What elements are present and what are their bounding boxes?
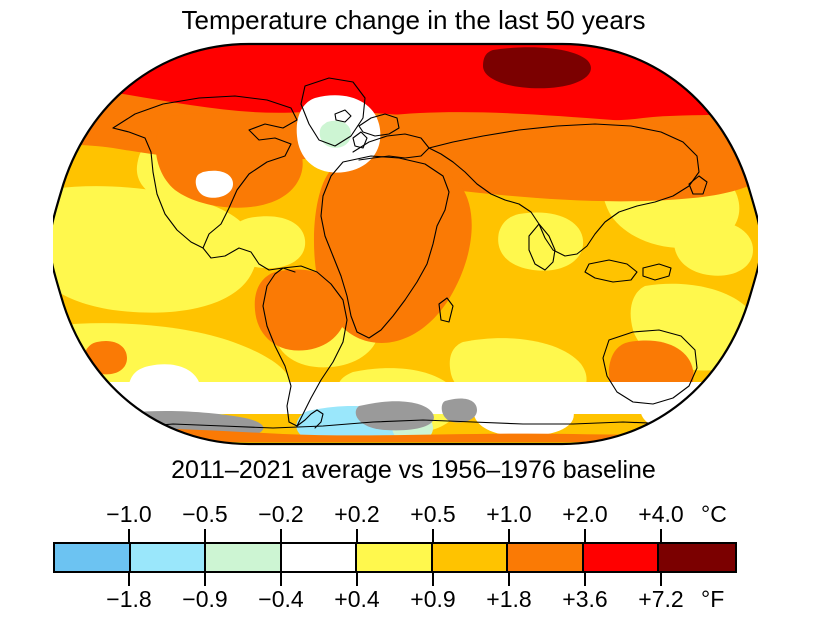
colorbar-labels-fahrenheit: −1.8−0.9−0.4+0.4+0.9+1.8+3.6+7.2°F	[53, 585, 737, 615]
celsius-label-0: −1.0	[106, 500, 151, 528]
colorbar-swatch-5	[433, 544, 509, 571]
celsius-tick-4	[432, 529, 434, 543]
map-svg	[53, 42, 758, 446]
fahrenheit-tick-2	[280, 572, 282, 586]
colorbar: −1.0−0.5−0.2+0.2+0.5+1.0+2.0+4.0°C −1.8−…	[53, 500, 737, 625]
fahrenheit-tick-0	[128, 572, 130, 586]
celsius-label-5: +1.0	[486, 500, 531, 528]
fahrenheit-label-7: +7.2	[638, 585, 683, 613]
fahrenheit-label-0: −1.8	[106, 585, 151, 613]
celsius-tick-3	[356, 529, 358, 543]
fahrenheit-tick-3	[356, 572, 358, 586]
celsius-label-4: +0.5	[410, 500, 455, 528]
colorbar-swatch-6	[508, 544, 584, 571]
fahrenheit-label-4: +0.9	[410, 585, 455, 613]
chart-subtitle: 2011–2021 average vs 1956–1976 baseline	[0, 455, 827, 485]
colorbar-swatches	[53, 542, 737, 573]
colorbar-swatch-8	[659, 544, 735, 571]
colorbar-ticks-celsius	[53, 529, 737, 543]
fahrenheit-label-6: +3.6	[562, 585, 607, 613]
celsius-label-7: +4.0	[638, 500, 683, 528]
celsius-tick-2	[280, 529, 282, 543]
celsius-tick-7	[660, 529, 662, 543]
fahrenheit-tick-7	[660, 572, 662, 586]
celsius-unit: °C	[701, 500, 727, 528]
celsius-tick-0	[128, 529, 130, 543]
fahrenheit-tick-6	[584, 572, 586, 586]
fahrenheit-tick-1	[204, 572, 206, 586]
field-band-antarctic	[53, 382, 758, 446]
fahrenheit-tick-4	[432, 572, 434, 586]
colorbar-swatch-4	[357, 544, 433, 571]
colorbar-swatch-0	[55, 544, 131, 571]
colorbar-swatch-2	[206, 544, 282, 571]
colorbar-labels-celsius: −1.0−0.5−0.2+0.2+0.5+1.0+2.0+4.0°C	[53, 500, 737, 530]
chart-title: Temperature change in the last 50 years	[0, 4, 827, 36]
fahrenheit-tick-5	[508, 572, 510, 586]
celsius-tick-1	[204, 529, 206, 543]
colorbar-swatch-3	[282, 544, 358, 571]
colorbar-swatch-1	[131, 544, 207, 571]
fahrenheit-label-2: −0.4	[258, 585, 303, 613]
fahrenheit-label-1: −0.9	[182, 585, 227, 613]
world-map	[53, 42, 758, 446]
fahrenheit-label-5: +1.8	[486, 585, 531, 613]
colorbar-swatch-7	[584, 544, 660, 571]
climate-anomaly-figure: Temperature change in the last 50 years	[0, 0, 827, 639]
celsius-label-3: +0.2	[334, 500, 379, 528]
colorbar-ticks-fahrenheit	[53, 572, 737, 586]
fahrenheit-label-3: +0.4	[334, 585, 379, 613]
fahrenheit-unit: °F	[701, 585, 724, 613]
celsius-label-2: −0.2	[258, 500, 303, 528]
celsius-tick-6	[584, 529, 586, 543]
celsius-label-1: −0.5	[182, 500, 227, 528]
celsius-label-6: +2.0	[562, 500, 607, 528]
celsius-tick-5	[508, 529, 510, 543]
map-field	[53, 42, 758, 446]
